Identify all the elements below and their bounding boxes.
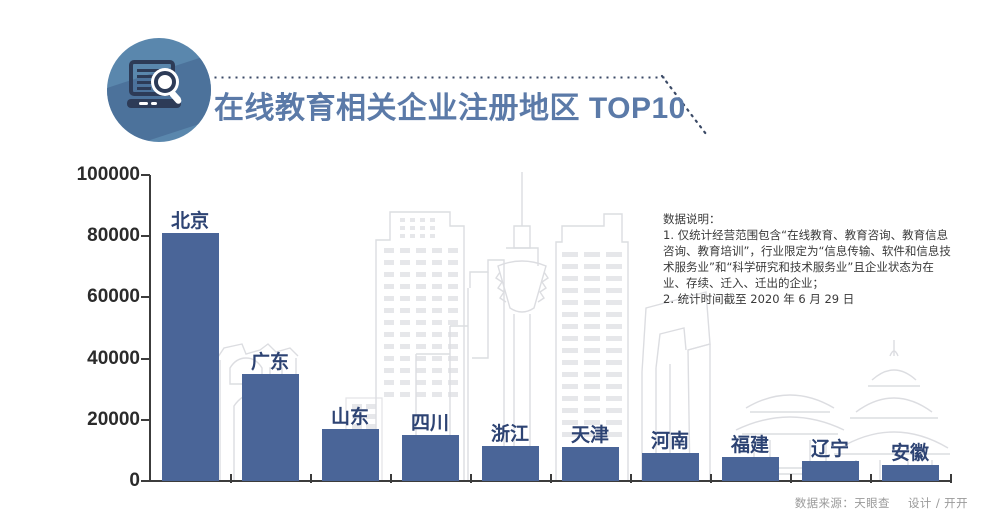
y-axis-tick-label: 60000 [30,286,140,308]
bar-category-label: 安徽 [850,438,970,465]
y-axis-tick-label: 0 [30,470,140,492]
footer: 数据来源：天眼查 设计 / 开开 [781,495,968,511]
y-axis-tick-label: 40000 [30,348,140,370]
bar [882,465,939,481]
infographic-page: 在线教育相关企业注册地区 TOP10 [0,0,1000,532]
y-axis-tick-mark [141,419,150,421]
bar-category-label: 广东 [210,347,330,374]
y-axis-tick-label: 80000 [30,225,140,247]
y-axis-labels: 020000400006000080000100000 [28,0,140,532]
page-title: 在线教育相关企业注册地区 TOP10 [214,83,686,127]
note-item-1: 1. 仅统计经营范围包含“在线教育、教育咨询、教育信息咨询、教育培训”，行业限定… [663,227,953,291]
title-dotted-rule [212,76,667,79]
y-axis-tick-label: 100000 [30,164,140,186]
y-axis-tick-label: 20000 [30,409,140,431]
header: 在线教育相关企业注册地区 TOP10 [0,0,1000,155]
data-note: 数据说明： 1. 仅统计经营范围包含“在线教育、教育咨询、教育信息咨询、教育培训… [663,211,953,307]
bar [642,453,699,481]
x-axis-tick-mark [950,474,952,483]
data-source: 数据来源：天眼查 [795,496,890,510]
bar [322,429,379,481]
y-axis-tick-mark [141,235,150,237]
design-credit: 设计 / 开开 [908,496,968,510]
y-axis-tick-mark [141,174,150,176]
bar-category-label: 北京 [130,206,250,233]
bar [482,446,539,481]
y-axis-tick-mark [141,480,150,482]
y-axis-tick-mark [141,296,150,298]
note-item-2: 2. 统计时间截至 2020 年 6 月 29 日 [663,291,953,307]
note-heading: 数据说明： [663,211,953,227]
y-axis-tick-mark [141,358,150,360]
